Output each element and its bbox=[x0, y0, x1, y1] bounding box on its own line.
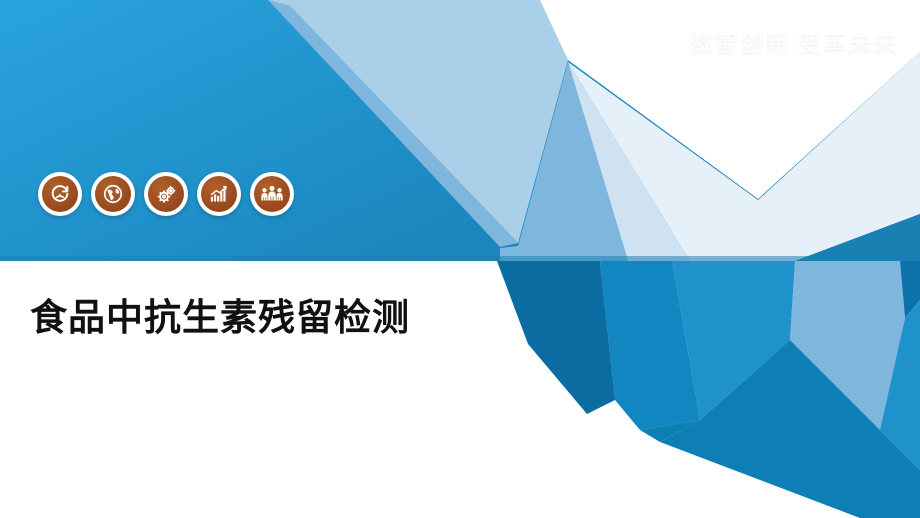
icon-row bbox=[38, 172, 294, 216]
icon-badge-bar-chart[interactable] bbox=[197, 172, 241, 216]
gears-icon bbox=[148, 176, 184, 212]
icon-badge-refresh[interactable] bbox=[38, 172, 82, 216]
icon-badge-gears[interactable] bbox=[144, 172, 188, 216]
slide-canvas: 数智创新 变革未来 bbox=[0, 0, 920, 518]
globe-icon bbox=[95, 176, 131, 212]
people-group-icon bbox=[254, 176, 290, 212]
bar-chart-icon bbox=[201, 176, 237, 212]
tagline-text: 数智创新 变革未来 bbox=[690, 24, 898, 58]
icon-badge-people[interactable] bbox=[250, 172, 294, 216]
refresh-arrow-icon bbox=[42, 176, 78, 212]
icon-badge-globe[interactable] bbox=[91, 172, 135, 216]
background-graphic bbox=[0, 0, 920, 518]
facet-lower-deep-left bbox=[497, 261, 615, 414]
page-title: 食品中抗生素残留检测 bbox=[30, 287, 410, 341]
band-bottom-edge bbox=[0, 256, 920, 261]
